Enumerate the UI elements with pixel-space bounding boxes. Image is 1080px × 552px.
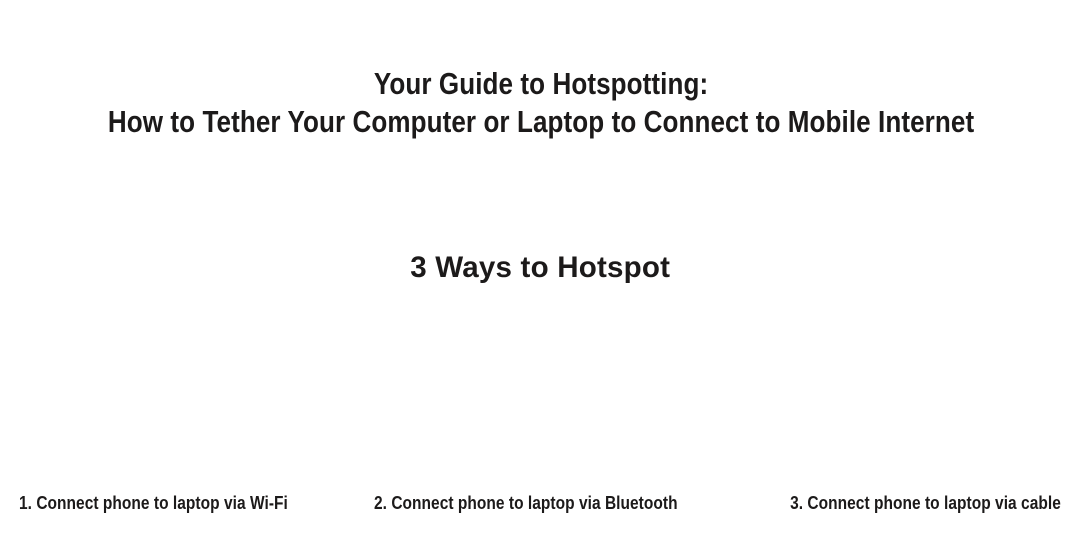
article-page: Your Guide to Hotspotting: How to Tether…: [0, 0, 1080, 552]
methods-row: 1. Connect phone to laptop via Wi-Fi 2. …: [0, 286, 1080, 514]
method-illustration-wifi: [19, 307, 361, 492]
page-title-line-2: How to Tether Your Computer or Laptop to…: [87, 103, 994, 141]
page-title-line-1: Your Guide to Hotspotting:: [87, 65, 994, 103]
method-item-wifi: 1. Connect phone to laptop via Wi-Fi: [0, 286, 361, 514]
section-heading: 3 Ways to Hotspot: [8, 250, 1072, 286]
method-illustration-cable: [720, 307, 1062, 492]
method-caption-cable: 3. Connect phone to laptop via cable: [790, 492, 1061, 514]
method-illustration-bluetooth: [374, 307, 720, 492]
method-caption-wifi: 1. Connect phone to laptop via Wi-Fi: [19, 492, 313, 514]
method-item-cable: 3. Connect phone to laptop via cable: [720, 286, 1080, 514]
page-title: Your Guide to Hotspotting: How to Tether…: [87, 65, 994, 141]
method-caption-bluetooth: 2. Connect phone to laptop via Bluetooth: [374, 492, 672, 514]
method-item-bluetooth: 2. Connect phone to laptop via Bluetooth: [361, 286, 720, 514]
